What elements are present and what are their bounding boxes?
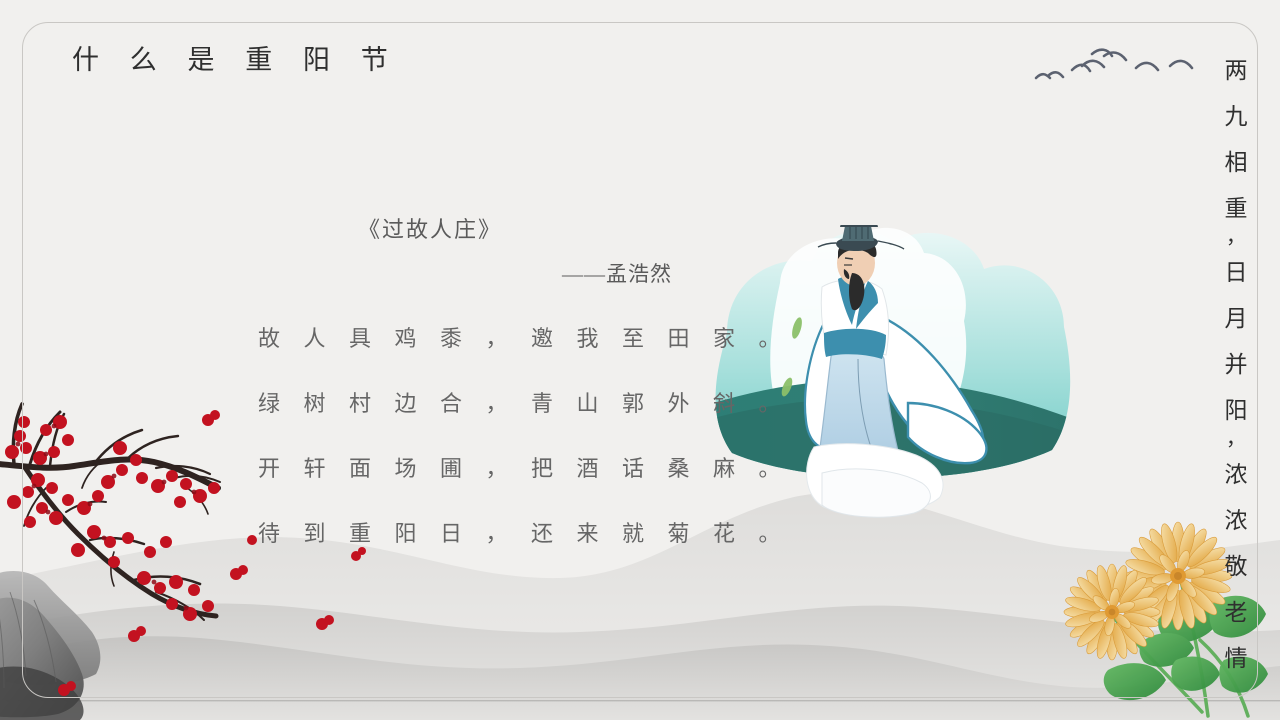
poem-title: 《过故人庄》	[358, 212, 700, 244]
side-text-char: 敬	[1214, 544, 1258, 590]
side-text-char: 并	[1214, 342, 1258, 388]
poem-line-1: 故 人 具 鸡 黍 ， 邀 我 至 田 家 。	[258, 321, 700, 353]
side-text-char: 情	[1214, 636, 1258, 682]
side-text-char: 九	[1214, 94, 1258, 140]
side-text-char: 老	[1214, 590, 1258, 636]
side-text-punct: ，	[1214, 434, 1258, 452]
flying-geese-icon	[1030, 42, 1210, 106]
side-text-char: 相	[1214, 140, 1258, 186]
side-text-char: 浓	[1214, 498, 1258, 544]
side-text-char: 日	[1214, 250, 1258, 296]
vertical-side-text: 两九相重，日月并阳，浓浓敬老情	[1214, 48, 1258, 688]
poem-line-2: 绿 树 村 边 合 ， 青 山 郭 外 斜 。	[258, 386, 700, 418]
slide-canvas: 什 么 是 重 阳 节 《过故人庄》 ——孟浩然 故 人 具 鸡 黍 ， 邀 我…	[0, 0, 1280, 720]
poem-line-3: 开 轩 面 场 圃 ， 把 酒 话 桑 麻 。	[258, 451, 700, 483]
scholar-illustration	[672, 225, 1112, 545]
poem-block: 《过故人庄》 ——孟浩然 故 人 具 鸡 黍 ， 邀 我 至 田 家 。 绿 树…	[250, 212, 700, 548]
page-title: 什 么 是 重 阳 节	[72, 38, 400, 77]
poem-author: ——孟浩然	[250, 258, 700, 288]
poem-line-4: 待 到 重 阳 日 ， 还 来 就 菊 花 。	[258, 516, 700, 548]
side-text-char: 浓	[1214, 452, 1258, 498]
side-text-char: 两	[1214, 48, 1258, 94]
side-text-punct: ，	[1214, 232, 1258, 250]
side-text-char: 月	[1214, 296, 1258, 342]
